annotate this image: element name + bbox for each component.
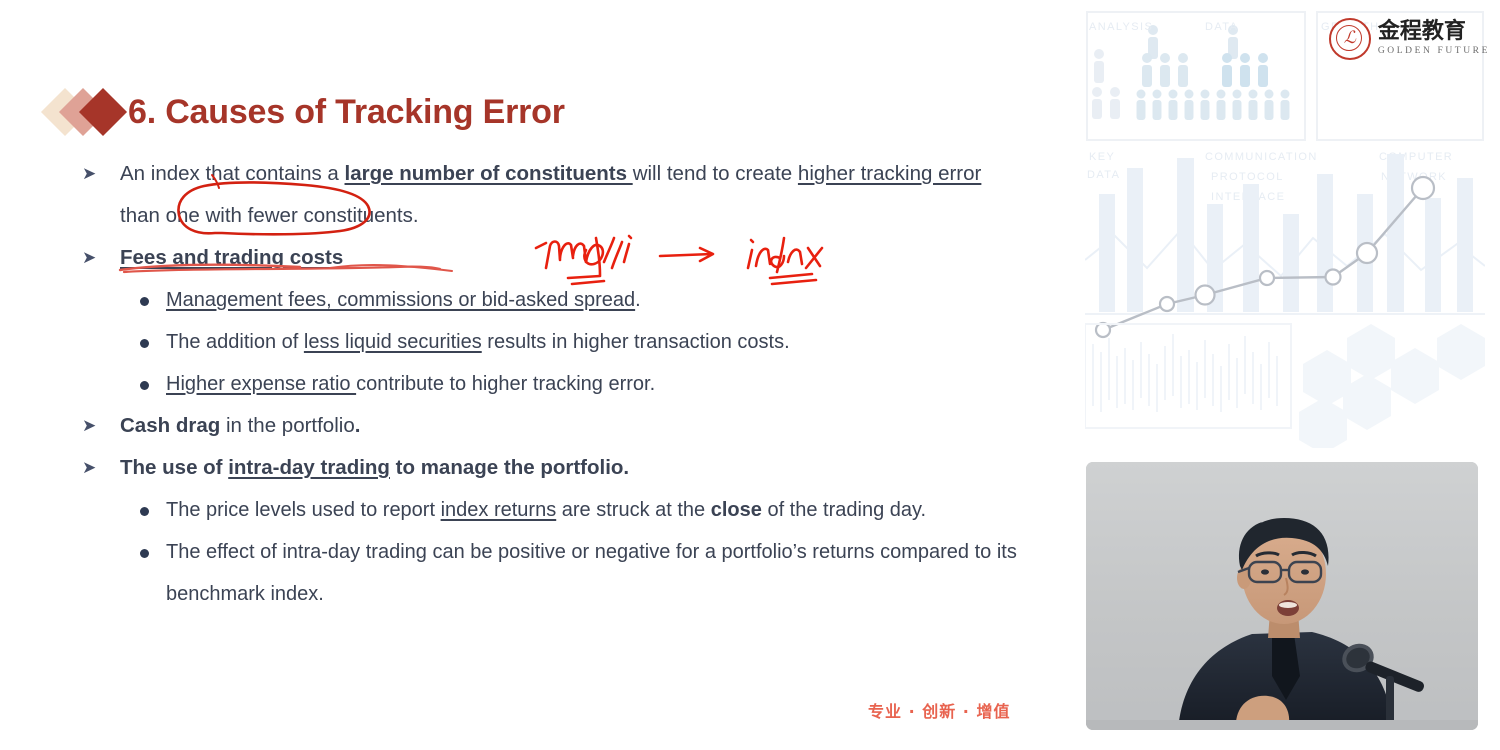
dot-bullet-icon: [140, 297, 149, 306]
footer-slogan: 专业 · 创新 · 增值: [868, 698, 1010, 722]
bullet-text-segment: index returns: [441, 499, 557, 521]
bullet-item-level2: The addition of less liquid securities r…: [78, 321, 1018, 363]
bullet-text-segment: Management fees, commissions or bid-aske…: [166, 289, 635, 311]
bullet-text-segment: Higher expense ratio: [166, 373, 356, 395]
bullet-text-segment: than one with fewer constituents.: [120, 204, 419, 227]
logo-english-name: GOLDEN FUTURE: [1378, 45, 1490, 57]
bullet-item-level2: Higher expense ratio contribute to highe…: [78, 363, 1018, 405]
logo-chinese-name: 金程教育: [1378, 21, 1490, 43]
hexagon-decoration: [1299, 324, 1485, 448]
svg-text:PROTOCOL: PROTOCOL: [1211, 171, 1284, 183]
arrow-bullet-icon: ➤: [82, 237, 96, 279]
arrow-bullet-icon: ➤: [82, 153, 96, 195]
svg-text:DATA: DATA: [1087, 169, 1120, 181]
seal-glyph: ℒ: [1331, 27, 1369, 49]
brand-logo: ℒ 金程教育 GOLDEN FUTURE: [1329, 18, 1490, 60]
svg-text:DATA: DATA: [1205, 21, 1238, 33]
diamond-decoration: [48, 88, 132, 136]
slide-canvas: 6. Causes of Tracking Error ➤An index th…: [0, 0, 1060, 750]
decorative-infographic: ANALYSIS DATA GROWTH COMMUNICATION PROTO…: [1085, 8, 1485, 448]
dot-bullet-icon: [140, 549, 149, 558]
bullet-text-segment: The use of: [120, 456, 228, 479]
lecturer-video-feed[interactable]: [1086, 462, 1478, 730]
bullet-item-level1: ➤The use of intra-day trading to manage …: [78, 447, 1018, 489]
bullet-text-segment: .: [355, 414, 361, 437]
bullet-text-segment: contribute to higher tracking error.: [356, 373, 655, 395]
bullet-text-segment: Fees and trading costs: [120, 246, 343, 269]
bullet-text-segment: An index that contains a: [120, 162, 345, 185]
people-pictograms: [1092, 25, 1290, 120]
svg-text:KEY: KEY: [1089, 151, 1115, 163]
bullet-item-level1: ➤An index that contains a large number o…: [78, 153, 1018, 237]
bullet-item-level2: Management fees, commissions or bid-aske…: [78, 279, 1018, 321]
page-title: 6. Causes of Tracking Error: [128, 93, 565, 132]
slide-body-list: ➤An index that contains a large number o…: [78, 153, 1018, 615]
bullet-item-level1: ➤Cash drag in the portfolio.: [78, 405, 1018, 447]
bullet-text-segment: will tend to create: [633, 162, 798, 185]
dot-bullet-icon: [140, 507, 149, 516]
bullet-text-segment: The addition of: [166, 331, 304, 353]
bullet-text-segment: to manage the portfolio.: [390, 456, 629, 479]
bullet-text-segment: intra-day trading: [228, 456, 390, 479]
arrow-bullet-icon: ➤: [82, 405, 96, 447]
bullet-text-segment: The effect of intra-day trading can be p…: [166, 541, 1017, 605]
bullet-item-level1: ➤Fees and trading costs: [78, 237, 1018, 279]
bullet-text-segment: of the trading day.: [762, 499, 926, 521]
dot-bullet-icon: [140, 381, 149, 390]
dot-bullet-icon: [140, 339, 149, 348]
svg-text:ANALYSIS: ANALYSIS: [1089, 21, 1153, 33]
bullet-item-level2: The effect of intra-day trading can be p…: [78, 531, 1018, 615]
bullet-text-segment: results in higher transaction costs.: [482, 331, 790, 353]
bullet-text-segment: are struck at the: [556, 499, 711, 521]
bullet-text-segment: .: [635, 289, 641, 311]
bullet-item-level2: The price levels used to report index re…: [78, 489, 1018, 531]
arrow-bullet-icon: ➤: [82, 447, 96, 489]
right-sidebar: ANALYSIS DATA GROWTH COMMUNICATION PROTO…: [1060, 0, 1500, 750]
bullet-text-segment: The price levels used to report: [166, 499, 441, 521]
candlestick-decoration: [1093, 334, 1277, 412]
video-content: [1086, 462, 1478, 730]
svg-text:COMMUNICATION: COMMUNICATION: [1205, 151, 1318, 163]
slide-title-row: 6. Causes of Tracking Error: [48, 84, 565, 140]
logo-text-block: 金程教育 GOLDEN FUTURE: [1378, 21, 1490, 57]
bullet-text-segment: large number of constituents: [345, 162, 633, 185]
bullet-text-segment: in the portfolio: [220, 414, 354, 437]
bullet-text-segment: higher tracking error: [798, 162, 981, 185]
bullet-text-segment: less liquid securities: [304, 331, 482, 353]
bullet-text-segment: Cash drag: [120, 414, 220, 437]
seal-icon: ℒ: [1329, 18, 1371, 60]
bullet-text-segment: close: [711, 499, 762, 521]
